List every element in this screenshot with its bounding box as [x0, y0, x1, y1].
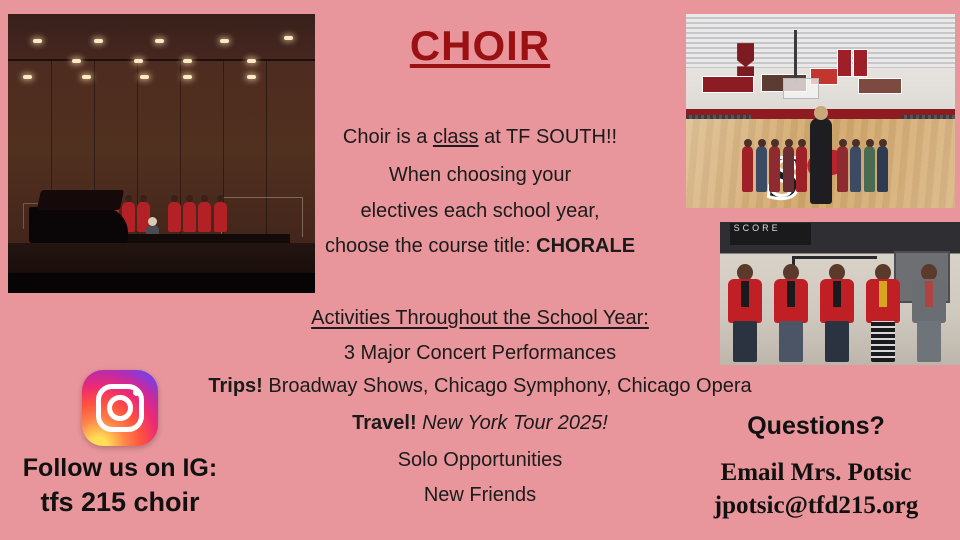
activity-item-concerts: 3 Major Concert Performances — [180, 342, 780, 365]
intro-class-word: class — [433, 126, 479, 148]
instagram-icon-dot — [133, 389, 140, 396]
intro-line-1-post: at TF SOUTH!! — [479, 126, 618, 148]
intro-line-4-pre: choose the course title: — [325, 235, 536, 257]
instagram-icon[interactable] — [82, 370, 158, 446]
course-title-chorale: CHORALE — [536, 235, 635, 257]
flyer-canvas: S SCORE — [0, 0, 960, 540]
grand-piano — [29, 207, 127, 243]
questions-label: Questions? — [672, 412, 960, 441]
intro-line-1-pre: Choir is a — [343, 126, 433, 148]
contact-email[interactable]: jpotsic@tfd215.org — [672, 492, 960, 520]
activity-travel-label: Travel! — [352, 412, 416, 434]
activity-trips-detail: Broadway Shows, Chicago Symphony, Chicag… — [263, 375, 752, 397]
intro-line-1: Choir is a class at TF SOUTH!! — [180, 126, 780, 149]
gym-conductor-figure — [810, 118, 832, 204]
audience-silhouette — [8, 273, 315, 293]
instagram-icon-lens — [107, 395, 133, 421]
intro-line-4: choose the course title: CHORALE — [180, 235, 780, 258]
instagram-handle: tfs 215 choir — [0, 487, 240, 518]
intro-line-3: electives each school year, — [180, 200, 780, 223]
instagram-follow-label: Follow us on IG: — [0, 454, 240, 483]
piano-lid — [37, 190, 124, 210]
activity-travel-detail: New York Tour 2025! — [417, 412, 608, 434]
intro-line-2: When choosing your — [180, 164, 780, 187]
activities-heading: Activities Throughout the School Year: — [180, 307, 780, 330]
basketball-backboard — [783, 78, 819, 99]
contact-name: Email Mrs. Potsic — [672, 459, 960, 487]
activity-item-trips: Trips! Broadway Shows, Chicago Symphony,… — [140, 375, 820, 398]
activity-trips-label: Trips! — [208, 375, 262, 397]
page-title: CHOIR — [0, 22, 960, 70]
